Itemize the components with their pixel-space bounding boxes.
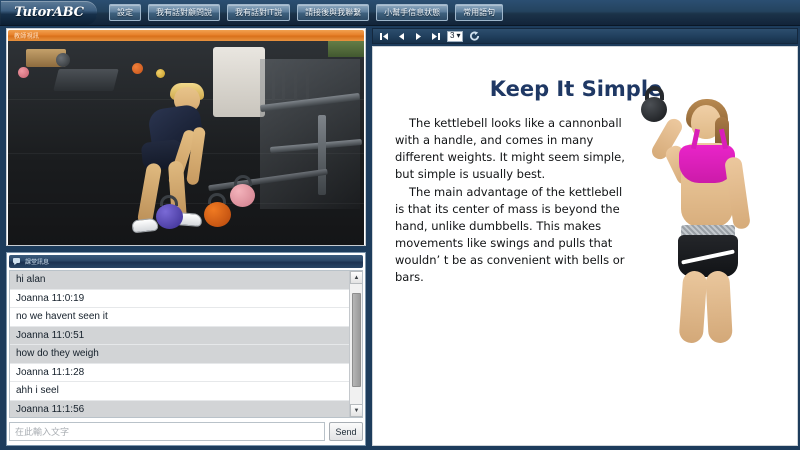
wooden-box bbox=[26, 49, 66, 67]
scroll-up-icon[interactable]: ▲ bbox=[350, 271, 363, 284]
toolbar-button-common-phrases[interactable]: 常用語句 bbox=[455, 4, 503, 21]
slide-page-number: 3 bbox=[450, 31, 454, 41]
first-slide-icon[interactable] bbox=[379, 31, 389, 42]
slide-page-select[interactable]: 3 ▾ bbox=[447, 31, 463, 42]
weight-bench bbox=[53, 69, 118, 91]
weight-plate bbox=[56, 53, 70, 67]
slide-navigation-toolbar: 3 ▾ bbox=[372, 28, 798, 44]
toolbar-button-talk-to-it[interactable]: 我有話對IT說 bbox=[227, 4, 290, 21]
chat-message: Joanna 11:0:51 bbox=[10, 327, 349, 346]
yellow-kettlebell-small bbox=[156, 69, 165, 78]
chat-message: Joanna 11:1:56 bbox=[10, 401, 349, 419]
top-toolbar: TutorABC 設定 我有話對顧問說 我有話對IT說 請接後與我聯繫 小幫手信… bbox=[0, 0, 800, 26]
rack-post bbox=[318, 115, 326, 195]
chat-scrollbar[interactable]: ▲ ▼ bbox=[349, 271, 362, 417]
chat-input[interactable] bbox=[9, 422, 325, 441]
chat-panel: 課堂訊息 hi alan Joanna 11:0:19 no we havent… bbox=[6, 252, 366, 446]
toolbar-button-group: 設定 我有話對顧問說 我有話對IT說 請接後與我聯繫 小幫手信息狀態 常用語句 bbox=[109, 4, 503, 21]
green-wall-strip bbox=[328, 41, 364, 57]
send-button[interactable]: Send bbox=[329, 422, 363, 441]
scroll-down-icon[interactable]: ▼ bbox=[350, 404, 363, 417]
chat-message-list: hi alan Joanna 11:0:19 no we havent seen… bbox=[10, 271, 349, 418]
kettlebell-body bbox=[156, 204, 183, 229]
pink-kettlebell-small bbox=[18, 67, 29, 78]
video-stage[interactable] bbox=[8, 41, 364, 245]
woman-leg-left bbox=[679, 270, 708, 343]
rack-bar bbox=[270, 139, 362, 153]
toolbar-button-assistant-status[interactable]: 小幫手信息狀態 bbox=[376, 4, 448, 21]
app-window: TutorABC 設定 我有話對顧問說 我有話對IT說 請接後與我聯繫 小幫手信… bbox=[0, 0, 800, 450]
next-slide-icon[interactable] bbox=[413, 31, 423, 42]
slide-paragraph: The kettlebell looks like a cannonball w… bbox=[395, 115, 627, 183]
right-column: 3 ▾ Keep It Simple The kettlebell looks … bbox=[370, 26, 800, 450]
slide-body-text: The kettlebell looks like a cannonball w… bbox=[395, 115, 627, 286]
toolbar-button-talk-to-consultant[interactable]: 我有話對顧問說 bbox=[148, 4, 220, 21]
video-panel-title: 教師視訊 bbox=[14, 31, 39, 40]
chat-message-area[interactable]: hi alan Joanna 11:0:19 no we havent seen… bbox=[9, 270, 363, 418]
chat-panel-title: 課堂訊息 bbox=[25, 257, 49, 266]
video-panel-header: 教師視訊 bbox=[8, 30, 364, 41]
chat-message: no we havent seen it bbox=[10, 308, 349, 327]
video-panel: 教師視訊 bbox=[6, 28, 366, 246]
logo-text: TutorABC bbox=[14, 5, 84, 20]
last-slide-icon[interactable] bbox=[430, 31, 440, 42]
chat-message: Joanna 11:0:19 bbox=[10, 290, 349, 309]
weight-rack bbox=[260, 59, 360, 209]
kettlebell-body bbox=[230, 184, 255, 207]
chat-message: ahh i seel bbox=[10, 382, 349, 401]
slide-image-woman-with-kettlebell bbox=[637, 83, 787, 345]
toolbar-button-settings[interactable]: 設定 bbox=[109, 4, 141, 21]
woman-leg-right bbox=[705, 270, 733, 343]
kettlebell-body bbox=[204, 202, 231, 227]
slide-paragraph: The main advantage of the kettlebell is … bbox=[395, 184, 627, 286]
chat-message: how do they weigh bbox=[10, 345, 349, 364]
chat-message: hi alan bbox=[10, 271, 349, 290]
tutorabc-logo: TutorABC bbox=[1, 1, 97, 25]
scrollbar-thumb[interactable] bbox=[352, 293, 361, 387]
toolbar-button-contact-me[interactable]: 請接後與我聯繫 bbox=[297, 4, 369, 21]
slide-viewer[interactable]: Keep It Simple The kettlebell looks like… bbox=[372, 46, 798, 446]
chat-bubble-icon bbox=[13, 258, 22, 266]
chat-input-row: Send bbox=[9, 422, 363, 441]
previous-slide-icon[interactable] bbox=[396, 31, 406, 42]
chat-panel-header: 課堂訊息 bbox=[9, 255, 363, 268]
figure-shoe-left bbox=[131, 218, 158, 234]
slide-content: Keep It Simple The kettlebell looks like… bbox=[373, 47, 797, 445]
rack-bar bbox=[260, 93, 360, 112]
chevron-down-icon: ▾ bbox=[456, 31, 460, 41]
orange-kettlebell-small bbox=[132, 63, 143, 74]
left-column: 教師視訊 bbox=[0, 26, 370, 450]
refresh-icon[interactable] bbox=[470, 31, 480, 42]
chat-message: Joanna 11:1:28 bbox=[10, 364, 349, 383]
kettlebell-body bbox=[641, 97, 667, 122]
